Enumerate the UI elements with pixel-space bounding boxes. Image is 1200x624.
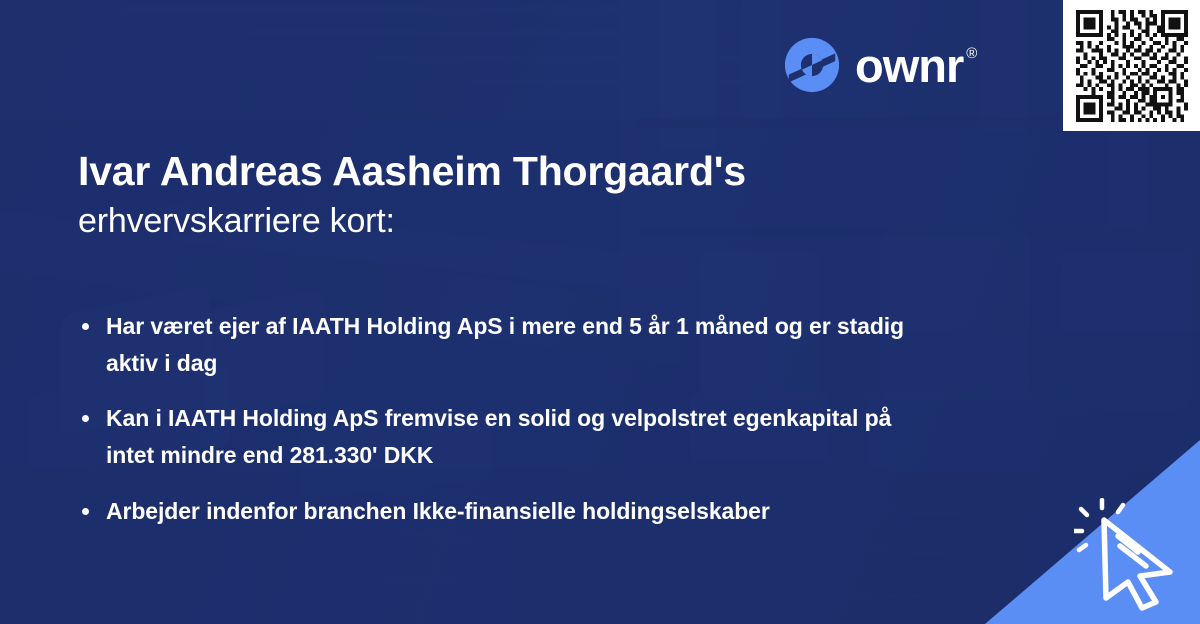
brand-wordmark: ownr ® (855, 42, 976, 89)
page-title: Ivar Andreas Aasheim Thorgaard's (78, 148, 978, 195)
brand-name: ownr (855, 42, 963, 89)
career-facts-list: Har været ejer af IAATH Holding ApS i me… (78, 308, 978, 530)
qr-code-image (1076, 10, 1188, 122)
ownr-swirl-logo-icon (783, 36, 841, 94)
list-item: Arbejder indenfor branchen Ikke-finansie… (78, 493, 906, 530)
brand-logo[interactable]: ownr ® (783, 36, 976, 94)
list-item: Kan i IAATH Holding ApS fremvise en soli… (78, 400, 906, 475)
click-cursor-icon (1074, 498, 1194, 612)
registered-trademark-icon: ® (966, 46, 976, 61)
page-subtitle: erhvervskarriere kort: (78, 201, 978, 242)
career-card: ownr ® (0, 0, 1200, 624)
qr-code[interactable] (1063, 0, 1200, 131)
list-item: Har været ejer af IAATH Holding ApS i me… (78, 308, 906, 383)
career-summary: Ivar Andreas Aasheim Thorgaard's erhverv… (78, 148, 978, 548)
